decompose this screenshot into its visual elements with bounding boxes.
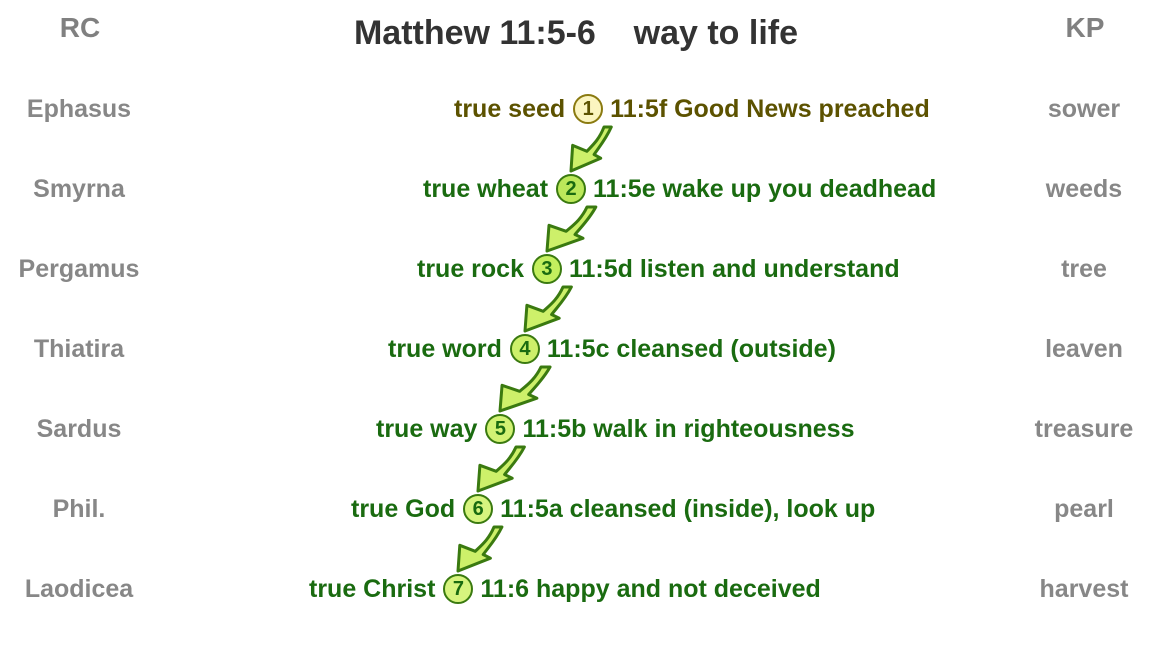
diagram-row: Phil.true God611:5a cleansed (inside), l… — [0, 492, 1152, 572]
kp-label: treasure — [1008, 412, 1152, 446]
rc-label: Ephasus — [0, 92, 158, 126]
rc-label: Laodicea — [0, 572, 158, 606]
rc-label: Smyrna — [0, 172, 158, 206]
row-phrase: true Christ — [309, 572, 443, 606]
row-verse: 11:5f Good News preached — [603, 92, 930, 126]
step-node-5[interactable]: 5 — [485, 414, 515, 444]
diagram-canvas: RC Matthew 11:5-6 way to life KP Ephasus… — [0, 0, 1152, 632]
row-verse: 11:5c cleansed (outside) — [540, 332, 836, 366]
diagram-row: Pergamustrue rock311:5d listen and under… — [0, 252, 1152, 332]
row-content: true God611:5a cleansed (inside), look u… — [351, 492, 875, 526]
kp-label: harvest — [1008, 572, 1152, 606]
row-content: true Christ711:6 happy and not deceived — [309, 572, 821, 606]
row-phrase: true way — [376, 412, 485, 446]
rc-label: Thiatira — [0, 332, 158, 366]
row-phrase: true word — [388, 332, 510, 366]
kp-label: weeds — [1008, 172, 1152, 206]
step-node-2[interactable]: 2 — [556, 174, 586, 204]
step-node-3[interactable]: 3 — [532, 254, 562, 284]
row-phrase: true rock — [417, 252, 532, 286]
row-phrase: true seed — [454, 92, 573, 126]
row-content: true way511:5b walk in righteousness — [376, 412, 855, 446]
rc-label: Pergamus — [0, 252, 158, 286]
row-verse: 11:5e wake up you deadhead — [586, 172, 936, 206]
row-phrase: true wheat — [423, 172, 556, 206]
diagram-row: Thiatiratrue word411:5c cleansed (outsid… — [0, 332, 1152, 412]
kp-label: sower — [1008, 92, 1152, 126]
row-verse: 11:6 happy and not deceived — [473, 572, 820, 606]
row-phrase: true God — [351, 492, 463, 526]
kp-label: pearl — [1008, 492, 1152, 526]
step-node-1[interactable]: 1 — [573, 94, 603, 124]
diagram-row: Smyrnatrue wheat211:5e wake up you deadh… — [0, 172, 1152, 252]
rc-label: Phil. — [0, 492, 158, 526]
page-title: Matthew 11:5-6 way to life — [0, 16, 1152, 50]
row-content: true seed111:5f Good News preached — [454, 92, 930, 126]
kp-label: leaven — [1008, 332, 1152, 366]
row-content: true wheat211:5e wake up you deadhead — [423, 172, 936, 206]
step-node-4[interactable]: 4 — [510, 334, 540, 364]
row-verse: 11:5d listen and understand — [562, 252, 900, 286]
row-verse: 11:5a cleansed (inside), look up — [493, 492, 875, 526]
row-content: true word411:5c cleansed (outside) — [388, 332, 836, 366]
step-node-7[interactable]: 7 — [443, 574, 473, 604]
diagram-row: Ephasustrue seed111:5f Good News preache… — [0, 92, 1152, 172]
row-verse: 11:5b walk in righteousness — [515, 412, 854, 446]
row-content: true rock311:5d listen and understand — [417, 252, 900, 286]
step-node-6[interactable]: 6 — [463, 494, 493, 524]
diagram-row: Laodiceatrue Christ711:6 happy and not d… — [0, 572, 1152, 652]
diagram-row: Sardustrue way511:5b walk in righteousne… — [0, 412, 1152, 492]
kp-label: tree — [1008, 252, 1152, 286]
rc-label: Sardus — [0, 412, 158, 446]
column-header-kp: KP — [1005, 14, 1152, 42]
